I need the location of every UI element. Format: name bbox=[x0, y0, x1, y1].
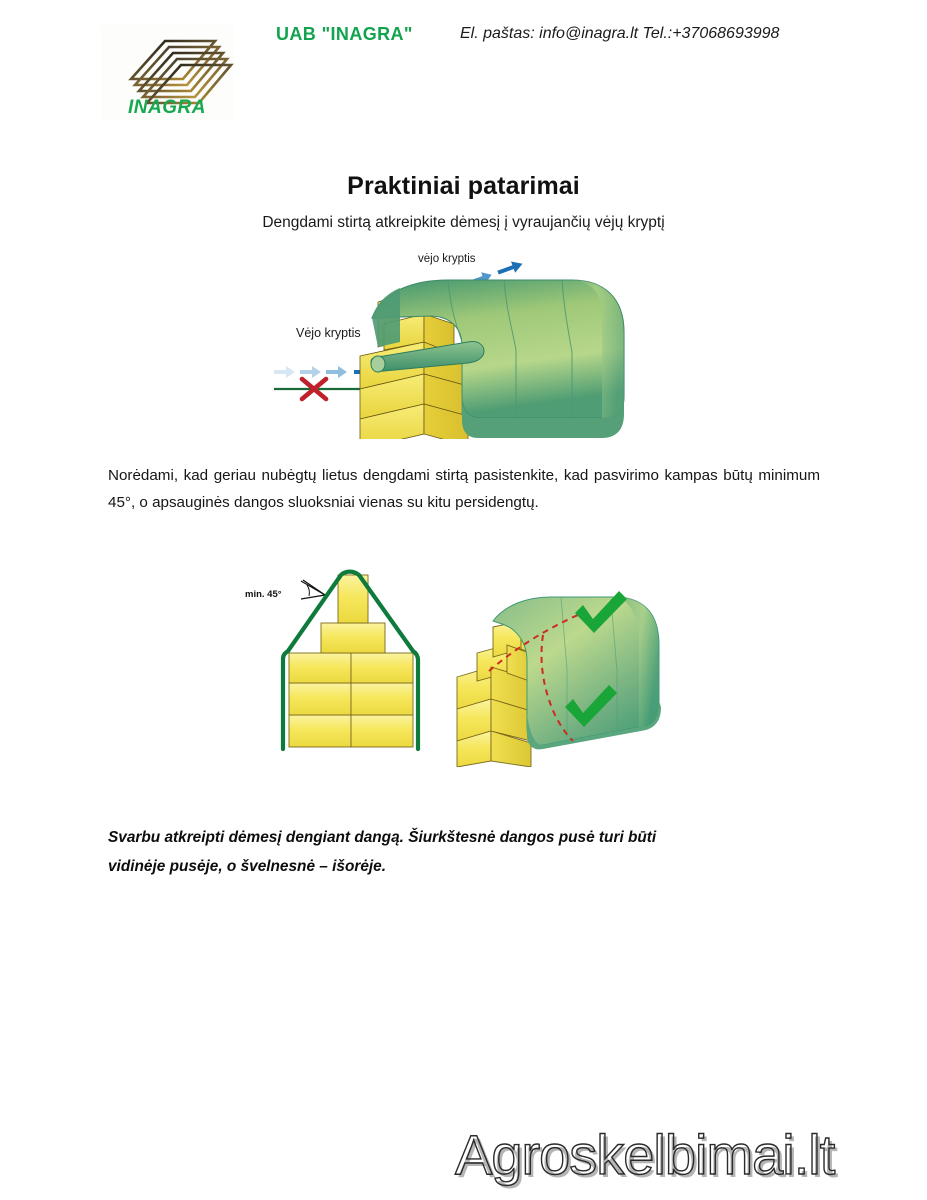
company-name: UAB "INAGRA" bbox=[276, 24, 413, 45]
important-note-line-2: vidinėje pusėje, o švelnesnė – išorėje. bbox=[108, 852, 820, 881]
angle-marker-icon bbox=[301, 580, 325, 599]
figure-wind-direction: vėjo kryptis Vėjo kryptis bbox=[272, 246, 682, 439]
page-subtitle: Dengdami stirtą atkreipkite dėmesį į vyr… bbox=[0, 214, 927, 232]
site-watermark: Agroskelbimai.lt bbox=[455, 1120, 925, 1192]
slope-cross-section: min. 45° bbox=[245, 572, 418, 749]
page-header: INAGRA UAB "INAGRA" El. paštas: info@ina… bbox=[0, 0, 927, 130]
important-note: Svarbu atkreipti dėmesį dengiant dangą. … bbox=[108, 823, 820, 881]
contact-info: El. paštas: info@inagra.lt Tel.:+3706869… bbox=[460, 25, 779, 43]
instruction-paragraph: Norėdami, kad geriau nubėgtų lietus deng… bbox=[108, 462, 820, 516]
logo-wordmark: INAGRA bbox=[128, 97, 206, 118]
figure-one-caption-right: vėjo kryptis bbox=[418, 253, 476, 265]
inagra-logo-graphic: INAGRA bbox=[101, 25, 234, 120]
page-title: Praktiniai patarimai bbox=[0, 172, 927, 201]
wrong-seam-indicator bbox=[274, 379, 360, 399]
angle-label: min. 45° bbox=[245, 589, 282, 600]
watermark-text: Agroskelbimai.lt bbox=[455, 1120, 925, 1190]
company-logo: INAGRA bbox=[101, 25, 234, 120]
important-note-line-1: Svarbu atkreipti dėmesį dengiant dangą. … bbox=[108, 823, 820, 852]
figure-one-caption-left: Vėjo kryptis bbox=[296, 326, 361, 340]
figure-slope-and-overlap: min. 45° bbox=[243, 549, 683, 767]
figure-slope-and-overlap-graphic: min. 45° bbox=[243, 549, 683, 767]
overlap-stack-illustration bbox=[457, 591, 661, 767]
figure-wind-direction-graphic: vėjo kryptis Vėjo kryptis bbox=[272, 246, 682, 439]
covered-haystack-illustration bbox=[360, 280, 624, 439]
